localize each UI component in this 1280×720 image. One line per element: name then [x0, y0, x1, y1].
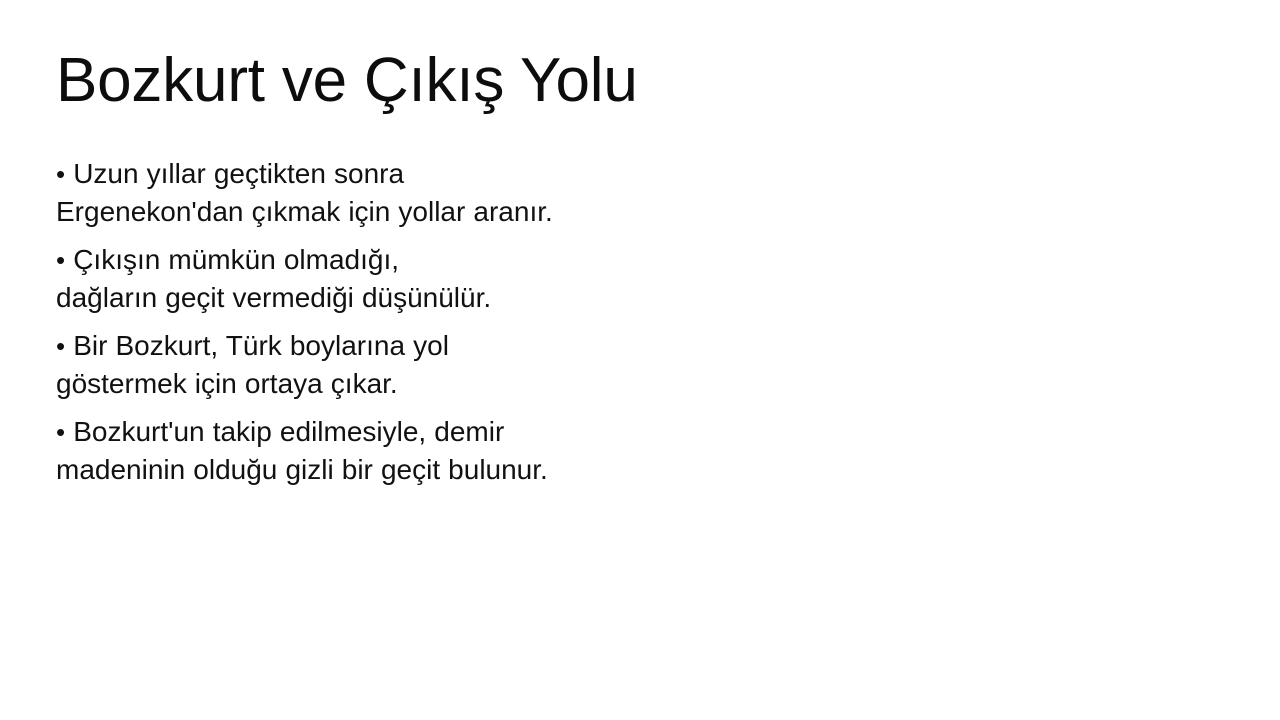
list-item-label: Bozkurt'un takip edilmesiyle, demir made…: [56, 416, 548, 485]
bullet-point-icon: •: [56, 159, 65, 189]
bullet-point-icon: •: [56, 331, 65, 361]
page-title: Bozkurt ve Çıkış Yolu: [56, 46, 1196, 117]
presentation-slide: Bozkurt ve Çıkış Yolu • Uzun yıllar geçt…: [0, 0, 1280, 720]
list-item-label: Bir Bozkurt, Türk boylarına yol gösterme…: [56, 330, 449, 399]
bullet-list: • Uzun yıllar geçtikten sonra Ergenekon'…: [56, 155, 576, 489]
list-item: • Uzun yıllar geçtikten sonra Ergenekon'…: [56, 155, 576, 231]
bullet-point-icon: •: [56, 417, 65, 447]
list-item: • Çıkışın mümkün olmadığı, dağların geçi…: [56, 241, 496, 317]
list-item-label: Çıkışın mümkün olmadığı, dağların geçit …: [56, 244, 491, 313]
list-item-label: Uzun yıllar geçtikten sonra Ergenekon'da…: [56, 158, 553, 227]
list-item: • Bir Bozkurt, Türk boylarına yol göster…: [56, 327, 534, 403]
bullet-point-icon: •: [56, 245, 65, 275]
list-item: • Bozkurt'un takip edilmesiyle, demir ma…: [56, 413, 561, 489]
